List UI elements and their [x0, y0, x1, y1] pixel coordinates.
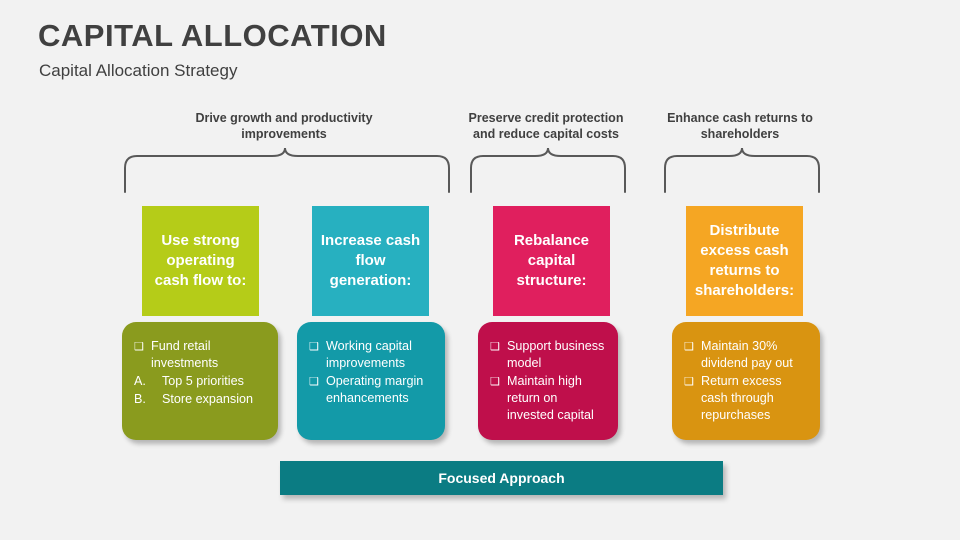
column-header-1: Use strong operating cash flow to:: [142, 206, 259, 316]
caption-group-3: Enhance cash returns to shareholders: [652, 110, 828, 142]
brace-group-3: [662, 146, 822, 194]
column-body-2: ❑Working capital improvements ❑Operating…: [297, 322, 445, 440]
brace-group-1: [122, 146, 452, 194]
page-subtitle: Capital Allocation Strategy: [39, 61, 237, 81]
caption-group-1: Drive growth and productivity improvemen…: [180, 110, 388, 142]
column-body-4: ❑Maintain 30% dividend pay out ❑Return e…: [672, 322, 820, 440]
square-bullet-icon: ❑: [490, 374, 500, 390]
column-list-3: ❑Support business model ❑Maintain high r…: [490, 338, 606, 424]
list-item: ❑Return excess cash through repurchases: [684, 373, 808, 424]
list-item: A.Top 5 priorities: [134, 373, 266, 390]
list-item: ❑Operating margin enhancements: [309, 373, 433, 407]
column-header-4: Distribute excess cash returns to shareh…: [686, 206, 803, 316]
list-item: ❑Working capital improvements: [309, 338, 433, 372]
list-item: ❑Maintain 30% dividend pay out: [684, 338, 808, 372]
caption-group-2: Preserve credit protection and reduce ca…: [456, 110, 636, 142]
footer-banner: Focused Approach: [280, 461, 723, 495]
page-title: CAPITAL ALLOCATION: [38, 18, 387, 54]
slide-canvas: CAPITAL ALLOCATION Capital Allocation St…: [0, 0, 960, 540]
list-item: ❑Support business model: [490, 338, 606, 372]
square-bullet-icon: ❑: [684, 339, 694, 355]
list-item: ❑Maintain high return on invested capita…: [490, 373, 606, 424]
list-item: ❑Fund retail investments: [134, 338, 266, 372]
column-list-2: ❑Working capital improvements ❑Operating…: [309, 338, 433, 407]
square-bullet-icon: ❑: [309, 339, 319, 355]
square-bullet-icon: ❑: [490, 339, 500, 355]
letter-marker: B.: [134, 391, 146, 407]
square-bullet-icon: ❑: [134, 339, 144, 355]
brace-group-2: [468, 146, 628, 194]
column-header-3: Rebalance capital structure:: [493, 206, 610, 316]
column-body-3: ❑Support business model ❑Maintain high r…: [478, 322, 618, 440]
column-body-1: ❑Fund retail investments A.Top 5 priorit…: [122, 322, 278, 440]
square-bullet-icon: ❑: [684, 374, 694, 390]
column-list-1: ❑Fund retail investments A.Top 5 priorit…: [134, 338, 266, 408]
column-list-4: ❑Maintain 30% dividend pay out ❑Return e…: [684, 338, 808, 424]
list-item: B.Store expansion: [134, 391, 266, 408]
column-header-2: Increase cash flow generation:: [312, 206, 429, 316]
letter-marker: A.: [134, 373, 146, 389]
square-bullet-icon: ❑: [309, 374, 319, 390]
